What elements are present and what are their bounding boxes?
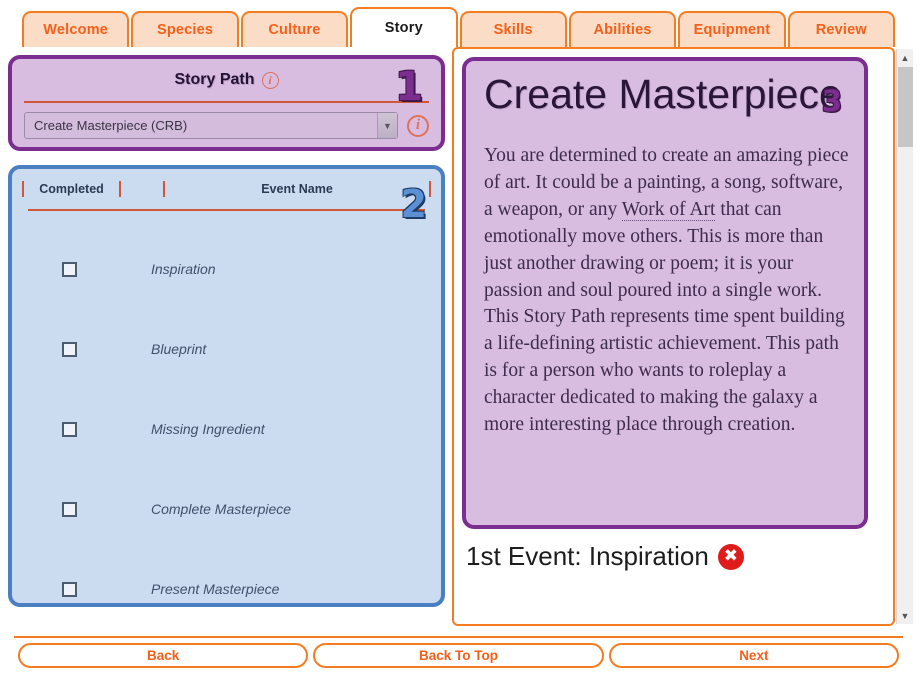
tab-review[interactable]: Review [788, 11, 895, 47]
tab-bar: Welcome Species Culture Story Skills Abi… [22, 9, 895, 47]
step-number-2: 2 [401, 185, 427, 223]
event-name: Missing Ingredient [117, 421, 431, 437]
events-panel: 2 Completed Event Name Inspiration Bluep… [8, 165, 445, 607]
tab-culture[interactable]: Culture [241, 11, 348, 47]
next-button[interactable]: Next [609, 643, 899, 668]
story-path-selected-value: Create Masterpiece (CRB) [25, 118, 377, 133]
description-body: You are determined to create an amazing … [480, 143, 850, 439]
completed-cell[interactable] [22, 262, 117, 277]
chevron-down-icon[interactable]: ▼ [897, 607, 913, 624]
chevron-down-icon[interactable]: ▼ [377, 113, 397, 138]
tab-skills[interactable]: Skills [460, 11, 567, 47]
tab-label: Welcome [43, 22, 108, 38]
story-path-header: Story Path i [12, 59, 441, 101]
current-event-label: 1st Event: Inspiration [466, 541, 709, 572]
error-x-icon[interactable]: ✖ [718, 544, 744, 570]
completed-cell[interactable] [22, 422, 117, 437]
completed-cell[interactable] [22, 342, 117, 357]
completed-checkbox[interactable] [62, 502, 77, 517]
table-row[interactable]: Complete Masterpiece [12, 469, 441, 549]
table-row[interactable]: Present Masterpiece [12, 549, 441, 607]
footer-nav: Back Back To Top Next [18, 643, 899, 668]
tab-story[interactable]: Story [350, 7, 457, 47]
table-row[interactable]: Missing Ingredient [12, 389, 441, 469]
description-panel: 3 Create Masterpiece You are determined … [462, 57, 868, 529]
tab-welcome[interactable]: Welcome [22, 11, 129, 47]
page-title: Create Masterpiece [480, 69, 850, 119]
chevron-up-icon[interactable]: ▲ [897, 49, 913, 66]
scrollbar-thumb[interactable] [898, 67, 913, 147]
events-table-body: Inspiration Blueprint Missing Ingredient… [12, 211, 441, 607]
tab-label: Review [816, 22, 867, 38]
footer-divider [14, 636, 903, 638]
completed-cell[interactable] [22, 582, 117, 597]
info-icon[interactable]: i [262, 72, 279, 89]
event-name: Blueprint [117, 341, 431, 357]
story-path-select-row: Create Masterpiece (CRB) ▼ i [12, 103, 441, 139]
current-event-row: 1st Event: Inspiration ✖ [466, 541, 866, 572]
event-name: Complete Masterpiece [117, 501, 431, 517]
table-row[interactable]: Inspiration [12, 229, 441, 309]
completed-checkbox[interactable] [62, 342, 77, 357]
table-row[interactable]: Blueprint [12, 309, 441, 389]
tab-label: Equipment [694, 22, 771, 38]
event-name: Present Masterpiece [117, 581, 431, 597]
tab-label: Story [385, 20, 423, 36]
tab-label: Abilities [593, 22, 651, 38]
tab-equipment[interactable]: Equipment [678, 11, 785, 47]
event-name: Inspiration [117, 261, 431, 277]
glossary-link-work-of-art[interactable]: Work of Art [622, 199, 716, 221]
description-text-part2: that can emotionally move others. This i… [484, 199, 845, 435]
completed-checkbox[interactable] [62, 262, 77, 277]
column-header-completed: Completed [22, 181, 121, 197]
completed-cell[interactable] [22, 502, 117, 517]
story-path-panel: 1 Story Path i Create Masterpiece (CRB) … [8, 55, 445, 151]
info-icon[interactable]: i [407, 115, 429, 137]
tab-abilities[interactable]: Abilities [569, 11, 676, 47]
story-path-select[interactable]: Create Masterpiece (CRB) ▼ [24, 112, 398, 139]
tab-label: Species [157, 22, 213, 38]
tab-label: Skills [494, 22, 533, 38]
vertical-scrollbar[interactable]: ▲ ▼ [896, 49, 913, 624]
column-header-event-name: Event Name [163, 181, 431, 197]
events-table-header: Completed Event Name [12, 169, 441, 209]
tab-label: Culture [268, 22, 320, 38]
completed-checkbox[interactable] [62, 422, 77, 437]
tab-species[interactable]: Species [131, 11, 238, 47]
back-button[interactable]: Back [18, 643, 308, 668]
story-path-title: Story Path [174, 71, 254, 89]
completed-checkbox[interactable] [62, 582, 77, 597]
step-number-3: 3 [822, 87, 842, 116]
back-to-top-button[interactable]: Back To Top [313, 643, 603, 668]
description-frame: 3 Create Masterpiece You are determined … [452, 47, 895, 626]
